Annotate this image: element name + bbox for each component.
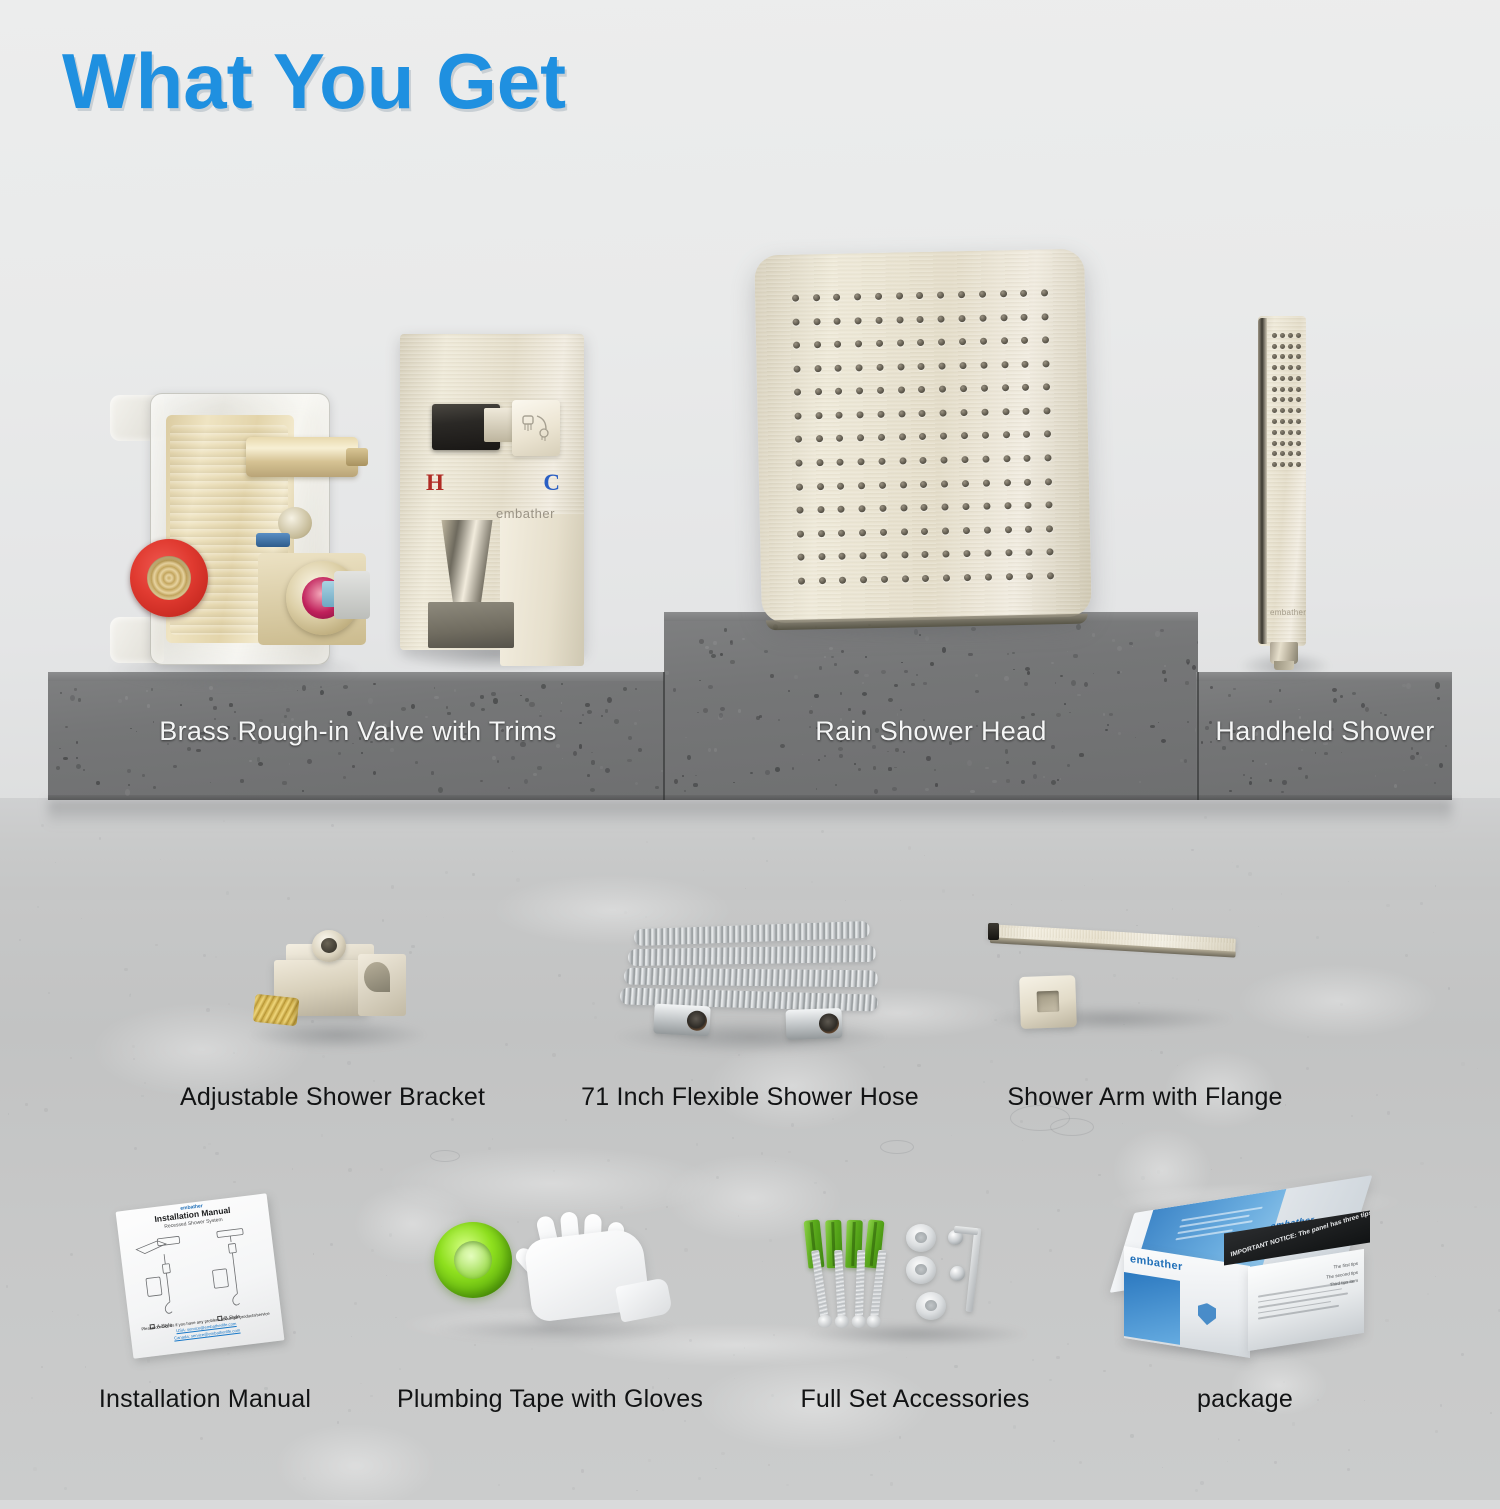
rain-head-nozzle bbox=[1023, 408, 1030, 415]
concrete-speck bbox=[930, 662, 934, 666]
hot-marker: H bbox=[426, 470, 444, 496]
rain-head-nozzle bbox=[984, 550, 991, 557]
package-box-side: The first tips The second tips Third tip… bbox=[1248, 1249, 1364, 1351]
rain-head-nozzle bbox=[979, 314, 986, 321]
concrete-speck bbox=[1079, 753, 1083, 757]
rain-head-nozzle bbox=[898, 387, 905, 394]
concrete-speck bbox=[911, 683, 915, 686]
concrete-speck bbox=[655, 786, 659, 789]
concrete-speck bbox=[1439, 763, 1443, 768]
rain-head-nozzle bbox=[875, 317, 882, 324]
rain-head-nozzle bbox=[814, 365, 821, 372]
concrete-speck bbox=[1013, 669, 1015, 670]
rain-head-nozzle-grid bbox=[785, 281, 1061, 593]
concrete-speck bbox=[1005, 749, 1009, 754]
concrete-speck bbox=[1007, 653, 1009, 655]
handheld-connector-nut bbox=[1270, 642, 1298, 664]
concrete-speck bbox=[714, 748, 717, 752]
platform-seam-left bbox=[663, 672, 665, 800]
rain-head-nozzle bbox=[856, 388, 863, 395]
concrete-speck bbox=[894, 767, 897, 769]
rain-head-nozzle bbox=[1044, 431, 1051, 438]
concrete-speck bbox=[1406, 683, 1411, 689]
concrete-speck bbox=[431, 771, 435, 775]
caption-shower-arm-with-flange: Shower Arm with Flange bbox=[1000, 1083, 1290, 1112]
package-box-front-blue-panel bbox=[1124, 1272, 1180, 1345]
concrete-speck bbox=[829, 647, 833, 650]
handheld-nozzle bbox=[1272, 451, 1277, 456]
concrete-speck bbox=[258, 762, 263, 766]
concrete-speck bbox=[1229, 790, 1231, 792]
handheld-nozzle bbox=[1272, 365, 1277, 370]
concrete-speck bbox=[1164, 678, 1167, 682]
shield-icon bbox=[1198, 1302, 1216, 1327]
concrete-speck bbox=[838, 747, 843, 751]
caption-installation-manual: Installation Manual bbox=[60, 1385, 350, 1414]
rain-head-nozzle bbox=[818, 530, 825, 537]
concrete-speck bbox=[63, 757, 67, 760]
rain-head-nozzle bbox=[816, 459, 823, 466]
diverter-button[interactable] bbox=[512, 400, 560, 456]
rain-head-nozzle bbox=[878, 434, 885, 441]
handheld-nozzle-grid bbox=[1270, 330, 1302, 470]
handheld-nozzle bbox=[1272, 354, 1277, 359]
concrete-speck bbox=[180, 704, 182, 706]
concrete-speck bbox=[623, 687, 627, 691]
caption-flexible-shower-hose: 71 Inch Flexible Shower Hose bbox=[580, 1083, 920, 1112]
concrete-speck bbox=[1434, 782, 1436, 784]
rain-head-nozzle bbox=[793, 365, 800, 372]
concrete-speck bbox=[286, 708, 290, 712]
rain-head-nozzle bbox=[835, 388, 842, 395]
rain-head-nozzle bbox=[859, 529, 866, 536]
concrete-speck bbox=[854, 763, 856, 765]
bracket-holder-hook bbox=[358, 954, 406, 1016]
rain-head-nozzle bbox=[1022, 384, 1029, 391]
concrete-speck bbox=[481, 708, 485, 711]
rain-head-nozzle bbox=[1003, 479, 1010, 486]
rain-head-nozzle bbox=[959, 338, 966, 345]
concrete-speck bbox=[874, 789, 878, 794]
concrete-speck bbox=[1185, 681, 1190, 685]
concrete-speck bbox=[415, 761, 418, 764]
concrete-speck bbox=[1341, 752, 1342, 754]
rain-head-nozzle bbox=[877, 411, 884, 418]
cotton-glove bbox=[522, 1212, 672, 1330]
concrete-speck bbox=[1012, 652, 1014, 654]
rain-shower-head bbox=[754, 249, 1092, 624]
concrete-speck bbox=[401, 707, 406, 711]
rain-head-nozzle bbox=[837, 482, 844, 489]
rain-head-nozzle bbox=[858, 458, 865, 465]
rain-head-nozzle bbox=[960, 409, 967, 416]
platform-bottom-edge bbox=[664, 795, 1198, 800]
rain-head-nozzle bbox=[899, 434, 906, 441]
rain-head-nozzle bbox=[1043, 384, 1050, 391]
platform-label-handheld: Handheld Shower bbox=[1150, 716, 1500, 747]
concrete-speck bbox=[373, 771, 376, 775]
concrete-speck bbox=[738, 709, 742, 713]
concrete-speck bbox=[848, 708, 850, 710]
concrete-speck bbox=[540, 711, 541, 713]
handheld-nozzle bbox=[1288, 408, 1293, 413]
handheld-nozzle bbox=[1280, 344, 1285, 349]
concrete-speck bbox=[240, 779, 244, 782]
manual-diagram-b-style bbox=[198, 1223, 268, 1316]
concrete-speck bbox=[562, 758, 563, 759]
concrete-speck bbox=[524, 779, 528, 784]
rain-head-nozzle bbox=[792, 318, 799, 325]
rain-head-nozzle bbox=[916, 292, 923, 299]
concrete-speck bbox=[493, 698, 497, 703]
concrete-speck bbox=[925, 788, 929, 792]
concrete-speck bbox=[1416, 752, 1419, 755]
concrete-speck bbox=[942, 647, 946, 653]
concrete-speck bbox=[1340, 695, 1343, 698]
rain-head-nozzle bbox=[814, 341, 821, 348]
rain-head-nozzle bbox=[918, 386, 925, 393]
rain-head-nozzle bbox=[876, 364, 883, 371]
concrete-speck bbox=[1004, 676, 1009, 681]
concrete-speck bbox=[605, 768, 610, 773]
rain-head-nozzle bbox=[984, 526, 991, 533]
mixer-handle-base bbox=[428, 602, 514, 648]
concrete-speck bbox=[438, 787, 443, 793]
concrete-speck bbox=[708, 685, 713, 689]
rain-head-nozzle bbox=[897, 363, 904, 370]
concrete-speck bbox=[770, 674, 774, 678]
rain-head-nozzle bbox=[793, 342, 800, 349]
rain-head-nozzle bbox=[919, 410, 926, 417]
rain-head-nozzle bbox=[896, 293, 903, 300]
concrete-speck bbox=[1164, 665, 1166, 667]
full-set-accessories bbox=[800, 1220, 1030, 1360]
rain-head-nozzle bbox=[943, 574, 950, 581]
concrete-speck bbox=[1352, 692, 1356, 695]
handheld-nozzle bbox=[1288, 451, 1293, 456]
concrete-speck bbox=[591, 760, 595, 764]
concrete-speck bbox=[764, 650, 768, 653]
rain-head-nozzle bbox=[797, 530, 804, 537]
concrete-speck bbox=[1282, 780, 1287, 784]
concrete-speck bbox=[343, 685, 348, 689]
concrete-speck bbox=[605, 709, 608, 713]
platform-bottom-edge bbox=[1196, 795, 1452, 800]
bracket-swivel-cap bbox=[312, 930, 346, 962]
rain-head-nozzle bbox=[943, 551, 950, 558]
rain-head-nozzle bbox=[1042, 337, 1049, 344]
concrete-speck bbox=[1375, 775, 1377, 776]
rain-head-nozzle bbox=[858, 482, 865, 489]
concrete-speck bbox=[1033, 774, 1038, 779]
concrete-speck bbox=[713, 641, 717, 646]
rain-head-nozzle bbox=[922, 551, 929, 558]
rain-head-nozzle bbox=[878, 458, 885, 465]
rain-head-nozzle bbox=[980, 362, 987, 369]
washer bbox=[916, 1292, 946, 1320]
handheld-nozzle bbox=[1280, 430, 1285, 435]
rain-head-nozzle bbox=[857, 411, 864, 418]
concrete-speck bbox=[1380, 712, 1382, 714]
rain-head-nozzle bbox=[859, 505, 866, 512]
concrete-speck bbox=[213, 706, 217, 709]
rain-head-nozzle bbox=[1044, 407, 1051, 414]
concrete-speck bbox=[775, 767, 780, 771]
platform-top-edge bbox=[1196, 672, 1452, 681]
concrete-speck bbox=[1051, 780, 1056, 785]
concrete-speck bbox=[970, 790, 975, 793]
rain-head-nozzle bbox=[962, 480, 969, 487]
concrete-speck bbox=[56, 766, 60, 770]
handheld-nozzle bbox=[1280, 354, 1285, 359]
concrete-speck bbox=[1064, 703, 1066, 705]
manual-page: embather Installation Manual Recessed Sh… bbox=[116, 1193, 285, 1358]
concrete-speck bbox=[320, 694, 322, 696]
rain-head-nozzle bbox=[922, 575, 929, 582]
package-box: embather embather The first tips The sec… bbox=[1104, 1196, 1372, 1361]
rain-head-nozzle bbox=[875, 293, 882, 300]
rain-head-nozzle bbox=[794, 389, 801, 396]
handheld-nozzle bbox=[1272, 397, 1277, 402]
concrete-speck bbox=[282, 781, 287, 784]
concrete-speck bbox=[125, 789, 130, 796]
concrete-speck bbox=[968, 653, 972, 657]
hose-loop bbox=[628, 945, 876, 966]
steel-ball bbox=[950, 1266, 965, 1281]
concrete-speck bbox=[1006, 779, 1011, 782]
rain-head-nozzle bbox=[917, 339, 924, 346]
concrete-speck bbox=[635, 782, 638, 785]
concrete-speck bbox=[59, 748, 61, 750]
concrete-speck bbox=[835, 784, 837, 786]
rain-head-nozzle bbox=[1004, 502, 1011, 509]
rain-head-nozzle bbox=[899, 457, 906, 464]
rain-head-nozzle bbox=[901, 528, 908, 535]
hose-connector-end bbox=[785, 1008, 842, 1040]
handheld-nozzle bbox=[1280, 387, 1285, 392]
platform-rain-head: Rain Shower Head bbox=[664, 612, 1198, 800]
handheld-nozzle bbox=[1280, 462, 1285, 467]
concrete-speck bbox=[210, 782, 212, 783]
rain-head-nozzle bbox=[963, 550, 970, 557]
rain-head-nozzle bbox=[817, 506, 824, 513]
concrete-speck bbox=[1024, 682, 1028, 686]
washer bbox=[906, 1256, 936, 1284]
rain-head-nozzle bbox=[1022, 361, 1029, 368]
concrete-speck bbox=[1361, 703, 1365, 708]
rain-head-nozzle bbox=[1005, 573, 1012, 580]
concrete-speck bbox=[750, 772, 753, 774]
caption-adjustable-shower-bracket: Adjustable Shower Bracket bbox=[180, 1083, 480, 1112]
rain-head-nozzle bbox=[798, 577, 805, 584]
concrete-speck bbox=[1192, 665, 1196, 670]
concrete-speck bbox=[904, 670, 909, 674]
rain-head-nozzle bbox=[1021, 314, 1028, 321]
rain-head-nozzle bbox=[917, 316, 924, 323]
concrete-speck bbox=[985, 767, 988, 770]
cold-marker: C bbox=[543, 470, 560, 496]
rain-head-nozzle bbox=[1001, 361, 1008, 368]
concrete-speck bbox=[338, 752, 341, 755]
valve-blue-chip bbox=[256, 533, 290, 547]
concrete-speck bbox=[1332, 688, 1337, 692]
concrete-speck bbox=[802, 754, 803, 755]
rain-head-nozzle bbox=[981, 409, 988, 416]
concrete-speck bbox=[289, 763, 290, 765]
handheld-nozzle bbox=[1288, 387, 1293, 392]
concrete-speck bbox=[730, 660, 734, 664]
concrete-speck bbox=[923, 682, 926, 684]
concrete-speck bbox=[854, 670, 859, 674]
concrete-speck bbox=[537, 766, 541, 770]
rain-head-nozzle bbox=[982, 456, 989, 463]
rain-head-nozzle bbox=[963, 527, 970, 534]
concrete-speck bbox=[1006, 761, 1009, 765]
concrete-speck bbox=[894, 684, 898, 687]
handheld-nozzle bbox=[1296, 430, 1301, 435]
rain-head-nozzle bbox=[1025, 525, 1032, 532]
rain-head-nozzle bbox=[855, 341, 862, 348]
concrete-speck bbox=[873, 766, 876, 769]
caption-full-set-accessories: Full Set Accessories bbox=[770, 1385, 1060, 1414]
concrete-speck bbox=[70, 695, 75, 701]
concrete-speck bbox=[76, 764, 81, 769]
handheld-nozzle bbox=[1296, 451, 1301, 456]
rain-head-nozzle bbox=[898, 410, 905, 417]
handheld-nozzle bbox=[1272, 333, 1277, 338]
concrete-speck bbox=[454, 689, 456, 692]
concrete-speck bbox=[352, 765, 355, 768]
concrete-speck bbox=[125, 696, 128, 700]
concrete-speck bbox=[824, 656, 826, 658]
platform-label-rain-head: Rain Shower Head bbox=[664, 716, 1198, 747]
rain-head-nozzle bbox=[836, 412, 843, 419]
concrete-speck bbox=[1228, 694, 1231, 697]
concrete-speck bbox=[687, 755, 692, 760]
concrete-speck bbox=[127, 769, 131, 773]
concrete-speck bbox=[128, 784, 131, 786]
rain-head-nozzle bbox=[834, 341, 841, 348]
handheld-nozzle bbox=[1296, 365, 1301, 370]
concrete-speck bbox=[525, 698, 529, 702]
rain-head-nozzle bbox=[1024, 455, 1031, 462]
concrete-speck bbox=[892, 787, 897, 791]
handheld-nozzle bbox=[1288, 365, 1293, 370]
rain-head-nozzle bbox=[919, 433, 926, 440]
concrete-speck bbox=[196, 749, 201, 752]
concrete-speck bbox=[573, 751, 577, 756]
platform-bottom-edge bbox=[48, 795, 668, 800]
concrete-speck bbox=[864, 674, 868, 678]
concrete-speck bbox=[434, 696, 438, 699]
concrete-speck bbox=[992, 780, 997, 784]
concrete-speck bbox=[814, 694, 819, 699]
platform-seam-right bbox=[1197, 672, 1199, 800]
concrete-speck bbox=[1043, 776, 1044, 777]
rain-head-nozzle bbox=[1041, 290, 1048, 297]
rain-head-nozzle bbox=[795, 460, 802, 467]
flexible-shower-hose bbox=[610, 915, 890, 1060]
rain-head-nozzle bbox=[855, 317, 862, 324]
concrete-speck bbox=[1129, 642, 1133, 645]
adjustable-shower-bracket bbox=[246, 920, 416, 1050]
rain-head-nozzle bbox=[839, 553, 846, 560]
concrete-speck bbox=[361, 752, 363, 754]
handheld-nozzle bbox=[1288, 397, 1293, 402]
concrete-speck bbox=[1252, 760, 1254, 763]
rain-head-nozzle bbox=[1020, 290, 1027, 297]
handheld-nozzle bbox=[1296, 354, 1301, 359]
concrete-speck bbox=[1281, 791, 1284, 794]
rain-head-nozzle bbox=[815, 412, 822, 419]
concrete-speck bbox=[229, 703, 232, 707]
concrete-speck bbox=[411, 704, 415, 709]
rain-head-nozzle bbox=[964, 574, 971, 581]
concrete-speck bbox=[508, 787, 510, 789]
concrete-speck bbox=[684, 790, 686, 792]
rain-head-nozzle bbox=[881, 575, 888, 582]
concrete-speck bbox=[560, 710, 562, 712]
concrete-speck bbox=[1051, 662, 1054, 664]
rain-head-nozzle bbox=[981, 385, 988, 392]
handheld-nozzle bbox=[1288, 419, 1293, 424]
handheld-nozzle bbox=[1280, 365, 1285, 370]
concrete-speck bbox=[730, 640, 733, 644]
concrete-speck bbox=[1365, 707, 1370, 712]
rain-head-nozzle bbox=[877, 387, 884, 394]
concrete-speck bbox=[1333, 698, 1337, 703]
concrete-speck bbox=[1324, 752, 1328, 755]
concrete-speck bbox=[819, 666, 822, 669]
rain-head-nozzle bbox=[1025, 502, 1032, 509]
handheld-nozzle bbox=[1272, 387, 1277, 392]
handheld-nozzle bbox=[1296, 397, 1301, 402]
concrete-speck bbox=[627, 759, 632, 763]
concrete-speck bbox=[840, 692, 842, 694]
rain-head-nozzle bbox=[813, 294, 820, 301]
handheld-nozzle bbox=[1288, 430, 1293, 435]
concrete-speck bbox=[1155, 631, 1160, 638]
rain-head-nozzle bbox=[958, 291, 965, 298]
rain-head-nozzle bbox=[856, 364, 863, 371]
concrete-speck bbox=[1279, 689, 1281, 691]
rain-head-nozzle bbox=[938, 339, 945, 346]
concrete-speck bbox=[591, 752, 593, 753]
concrete-speck bbox=[1160, 629, 1164, 633]
rain-head-nozzle bbox=[900, 481, 907, 488]
concrete-speck bbox=[118, 699, 122, 703]
concrete-speck bbox=[720, 707, 724, 711]
handheld-nozzle bbox=[1280, 419, 1285, 424]
rain-head-nozzle bbox=[1045, 454, 1052, 461]
handheld-nozzle bbox=[1296, 344, 1301, 349]
concrete-speck bbox=[695, 775, 697, 776]
concrete-speck bbox=[1250, 777, 1252, 779]
concrete-speck bbox=[173, 765, 177, 768]
concrete-speck bbox=[492, 756, 495, 760]
rain-head-nozzle bbox=[839, 576, 846, 583]
concrete-speck bbox=[1305, 775, 1308, 779]
rain-head-nozzle bbox=[961, 456, 968, 463]
rain-head-nozzle bbox=[921, 528, 928, 535]
rain-head-nozzle bbox=[941, 457, 948, 464]
concrete-speck bbox=[811, 706, 813, 707]
concrete-speck bbox=[587, 710, 592, 714]
concrete-speck bbox=[1298, 709, 1300, 710]
concrete-speck bbox=[858, 768, 861, 771]
concrete-speck bbox=[1032, 761, 1036, 765]
concrete-speck bbox=[1425, 764, 1427, 766]
